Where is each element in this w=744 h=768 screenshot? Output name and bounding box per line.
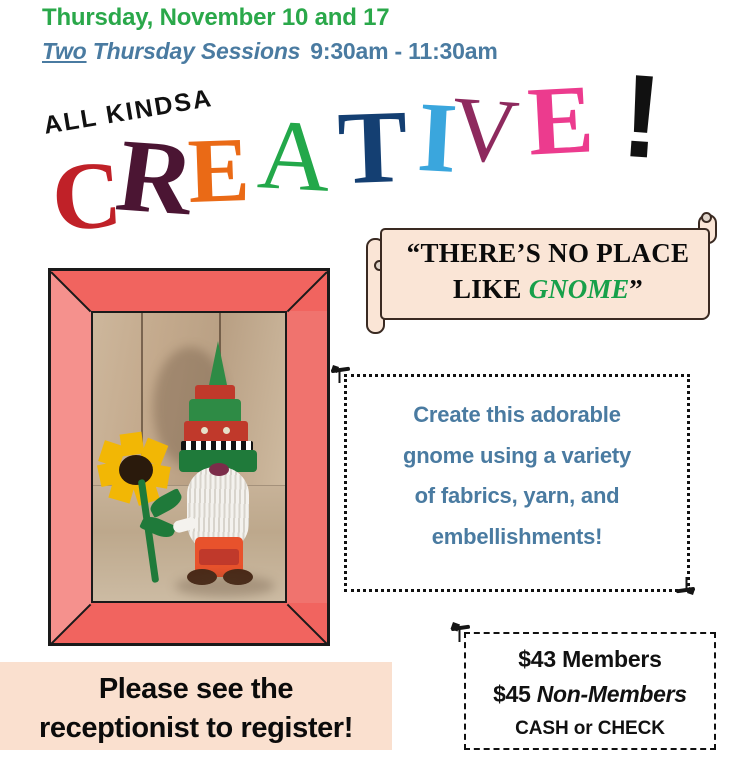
quote-text: “THERE’S NO PLACE LIKE GNOME” bbox=[394, 236, 702, 307]
price-nonmembers-amount: $45 bbox=[493, 681, 537, 707]
pushpin-icon bbox=[672, 574, 698, 598]
frame-bevel-bottom bbox=[51, 603, 330, 643]
title-letter-e2: E bbox=[525, 70, 595, 171]
register-text: Please see the receptionist to register! bbox=[0, 662, 392, 748]
description-line-2: gnome using a variety bbox=[363, 436, 671, 477]
title-letter-v: V bbox=[449, 82, 522, 178]
quote-line-2: LIKE GNOME” bbox=[394, 272, 702, 308]
title-exclamation: ! bbox=[618, 57, 665, 177]
payment-methods: CASH or CHECK bbox=[466, 718, 714, 740]
pushpin-icon bbox=[328, 362, 354, 386]
scroll-curl-right-icon bbox=[701, 212, 712, 223]
gnome-photo bbox=[91, 311, 287, 603]
title-creative-word: C R E A T I V E ! bbox=[0, 58, 744, 238]
title-letter-a: A bbox=[255, 104, 332, 208]
gnome-hat-tip bbox=[209, 341, 227, 385]
frame-bevel-right bbox=[287, 271, 327, 646]
frame-bevel-top bbox=[51, 271, 330, 311]
title-letter-t: T bbox=[336, 95, 409, 201]
gnome-photo-frame bbox=[48, 268, 330, 646]
event-date-line: Thursday, November 10 and 17 bbox=[42, 4, 389, 32]
gnome-body-stripe bbox=[199, 549, 239, 565]
gnome-hat-button bbox=[223, 427, 230, 434]
description-box: Create this adorable gnome using a varie… bbox=[344, 374, 690, 592]
register-line-2: receptionist to register! bbox=[0, 709, 392, 748]
description-line-1: Create this adorable bbox=[363, 395, 671, 436]
description-text: Create this adorable gnome using a varie… bbox=[363, 395, 671, 558]
frame-bevel-left bbox=[51, 271, 91, 646]
description-line-4: embellishments! bbox=[363, 517, 671, 558]
description-line-3: of fabrics, yarn, and bbox=[363, 476, 671, 517]
price-nonmembers-label: Non-Members bbox=[537, 681, 687, 707]
gnome-hat-band-red-2 bbox=[184, 421, 248, 443]
gnome-hat-button bbox=[201, 427, 208, 434]
pushpin-icon bbox=[448, 620, 474, 644]
register-line-1: Please see the bbox=[0, 670, 392, 709]
quote-gnome-word: GNOME bbox=[529, 274, 630, 304]
price-box: $43 Members $45 Non-Members CASH or CHEC… bbox=[464, 632, 716, 750]
register-banner: Please see the receptionist to register! bbox=[0, 662, 392, 750]
price-nonmembers: $45 Non-Members bbox=[466, 681, 714, 708]
gnome-figure bbox=[179, 341, 269, 589]
sunflower-center bbox=[119, 455, 153, 485]
sunflower-prop bbox=[101, 433, 179, 583]
gnome-ground-shadow bbox=[175, 575, 275, 597]
quote-line2-prefix: LIKE bbox=[453, 274, 529, 304]
title-letter-e1: E bbox=[186, 123, 251, 217]
gnome-nose bbox=[209, 463, 229, 476]
quote-line-1: “THERE’S NO PLACE bbox=[394, 236, 702, 272]
quote-scroll-banner: “THERE’S NO PLACE LIKE GNOME” bbox=[364, 222, 716, 338]
quote-line2-suffix: ” bbox=[629, 274, 643, 304]
price-members: $43 Members bbox=[466, 646, 714, 673]
